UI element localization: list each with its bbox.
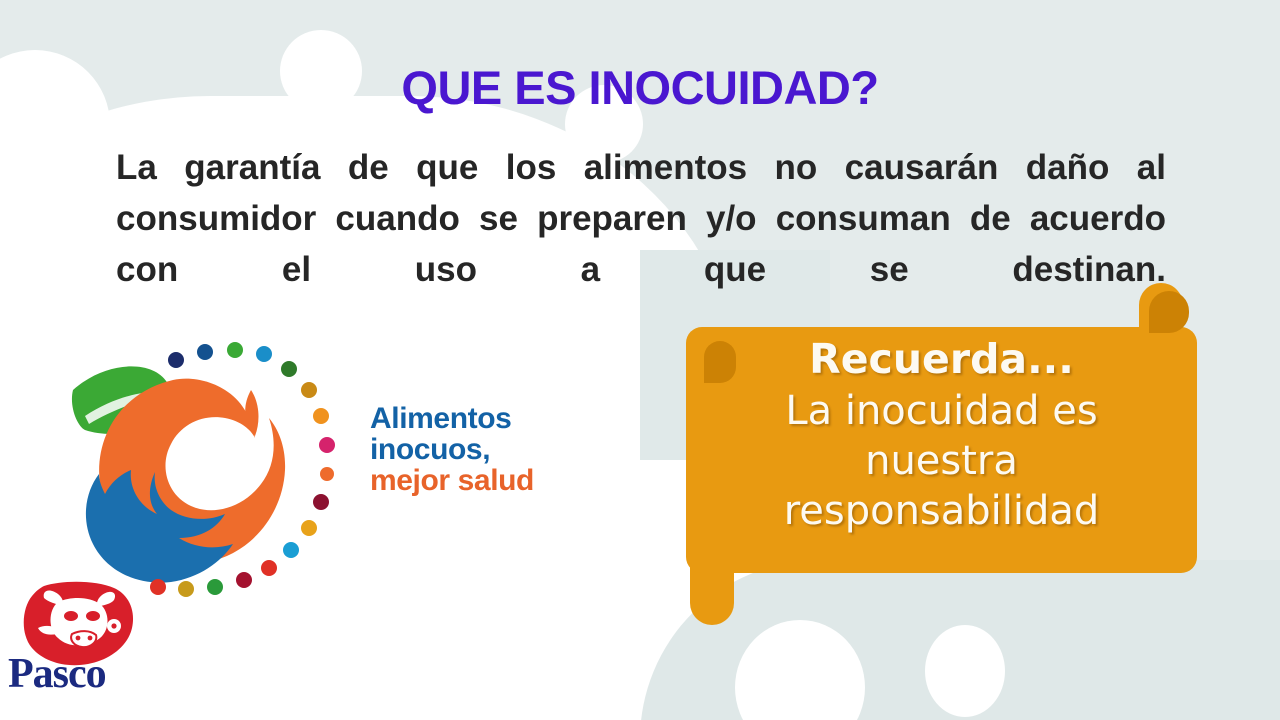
banner-line-2: nuestra [700, 436, 1183, 486]
banner-text-block: Recuerda... La inocuidad es nuestra resp… [700, 333, 1183, 536]
fs-line-3: mejor salud [370, 465, 630, 496]
banner-line-3: responsabilidad [700, 486, 1183, 536]
banner-fold-top-right [1149, 291, 1189, 333]
slide-canvas: QUE ES INOCUIDAD? La garantía de que los… [0, 0, 1280, 720]
food-safety-logo-wordmark: Alimentos inocuos, mejor salud [370, 403, 630, 496]
fs-line-2: inocuos, [370, 434, 630, 465]
page-title: QUE ES INOCUIDAD? [0, 60, 1280, 115]
pasco-wordmark: Pasco [8, 650, 106, 698]
background-circle-5 [925, 625, 1005, 717]
banner-heading: Recuerda... [700, 333, 1183, 386]
reminder-banner: Recuerda... La inocuidad es nuestra resp… [686, 283, 1201, 633]
food-safety-logo-icon [55, 338, 345, 600]
fs-line-1: Alimentos [370, 403, 630, 434]
banner-line-1: La inocuidad es [700, 386, 1183, 436]
background-circle-6 [510, 595, 630, 715]
